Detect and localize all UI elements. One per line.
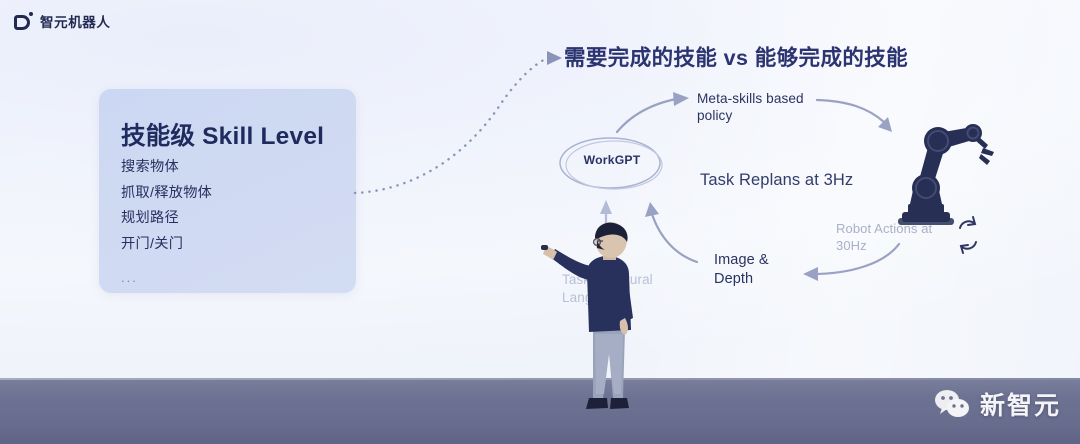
watermark-text: 新智元 — [980, 386, 1061, 422]
watermark: 新智元 — [932, 386, 1061, 422]
image-depth-label: Image & Depth — [714, 251, 769, 289]
wechat-icon — [932, 388, 972, 420]
meta-skills-label: Meta-skills based policy — [697, 90, 804, 124]
presentation-photo: 智元机器人 技能级 Skill Level 搜索物体 抓取/释放物体 规划路径 … — [0, 0, 1080, 444]
workgpt-node-label: WorkGPT — [578, 153, 646, 167]
arrow-meta-to-robot — [817, 100, 892, 132]
task-replans-label: Task Replans at 3Hz — [700, 172, 853, 189]
robot-arm-icon — [884, 108, 996, 244]
arrow-to-meta-skills — [617, 92, 689, 132]
presenter-person — [541, 222, 663, 434]
dotted-callout-arrow — [355, 51, 562, 193]
